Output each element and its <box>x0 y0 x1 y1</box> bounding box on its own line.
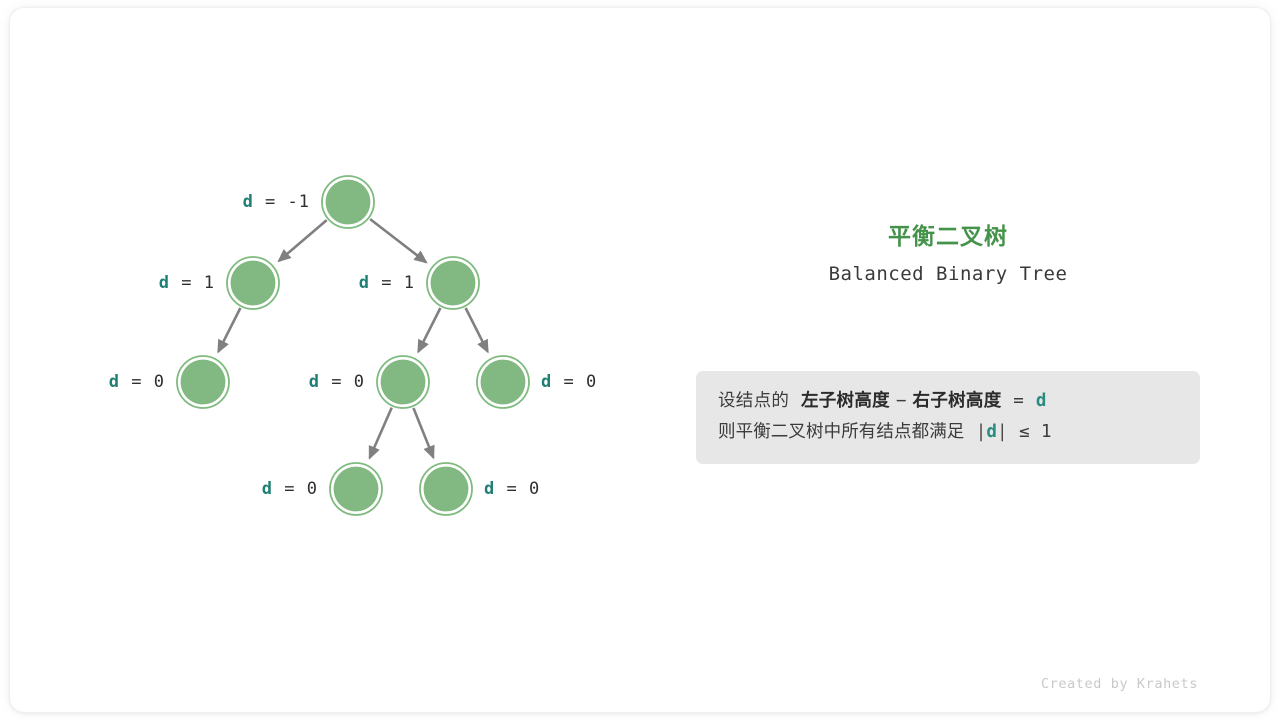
tree-edge <box>370 408 392 458</box>
tree-edge <box>418 308 440 352</box>
node-label-value: = 0 <box>320 372 365 392</box>
tree-nodes <box>177 176 529 515</box>
page-title: 平衡二叉树 <box>690 222 1206 252</box>
tree-node <box>322 176 374 228</box>
symbol-d-abs: d <box>986 422 997 442</box>
node-balance-label: d = 1 <box>159 273 215 293</box>
tree-node-core <box>381 360 426 405</box>
node-label-symbol: d <box>309 372 320 392</box>
node-label-symbol: d <box>484 479 495 499</box>
tree-node-core <box>231 261 276 306</box>
node-label-symbol: d <box>243 192 254 212</box>
node-label-value: = 1 <box>370 273 415 293</box>
node-label-value: = -1 <box>254 192 310 212</box>
binary-tree-graphic <box>0 0 1280 720</box>
tree-node-core <box>181 360 226 405</box>
tree-node <box>477 356 529 408</box>
tree-node-core <box>424 467 469 512</box>
term-left-subtree-height: 左子树高度 <box>801 391 890 411</box>
condition-prefix: 则平衡二叉树中所有结点都满足 <box>718 422 964 442</box>
node-balance-label: d = -1 <box>243 192 310 212</box>
diagram-canvas: d = -1d = 1d = 1d = 0d = 0d = 0d = 0d = … <box>0 0 1280 720</box>
tree-node <box>427 257 479 309</box>
tree-node <box>330 463 382 515</box>
definition-prefix: 设结点的 <box>718 391 789 411</box>
node-label-symbol: d <box>359 273 370 293</box>
node-label-value: = 0 <box>120 372 165 392</box>
node-label-symbol: d <box>262 479 273 499</box>
node-label-value: = 0 <box>495 479 540 499</box>
tree-edge <box>218 308 240 352</box>
tree-edge <box>370 219 426 262</box>
node-label-symbol: d <box>109 372 120 392</box>
tree-node-core <box>334 467 379 512</box>
definition-box: 设结点的 左子树高度 − 右子树高度 = d 则平衡二叉树中所有结点都满足 |d… <box>696 371 1200 464</box>
abs-bar-open: | <box>976 422 987 442</box>
node-label-value: = 1 <box>170 273 215 293</box>
bound-value: 1 <box>1041 422 1052 442</box>
node-balance-label: d = 0 <box>109 372 165 392</box>
tree-edge <box>413 408 433 457</box>
node-balance-label: d = 0 <box>262 479 318 499</box>
tree-edge <box>279 220 327 261</box>
node-balance-label: d = 0 <box>484 479 540 499</box>
panel-heading: 平衡二叉树 Balanced Binary Tree <box>690 222 1206 287</box>
node-balance-label: d = 0 <box>309 372 365 392</box>
minus-operator: − <box>896 391 907 411</box>
tree-edge <box>466 308 488 352</box>
credit-footer: Created by Krahets <box>0 676 1198 692</box>
node-balance-label: d = 1 <box>359 273 415 293</box>
tree-node <box>177 356 229 408</box>
tree-node <box>377 356 429 408</box>
equals-operator: = <box>1013 391 1024 411</box>
node-label-symbol: d <box>159 273 170 293</box>
abs-bar-close: | <box>997 422 1008 442</box>
tree-node <box>227 257 279 309</box>
definition-line-2: 则平衡二叉树中所有结点都满足 |d| ≤ 1 <box>718 417 1178 448</box>
tree-node-core <box>481 360 526 405</box>
node-label-symbol: d <box>541 372 552 392</box>
relation-operator: ≤ <box>1019 422 1030 442</box>
symbol-d: d <box>1036 391 1047 411</box>
tree-node <box>420 463 472 515</box>
definition-line-1: 设结点的 左子树高度 − 右子树高度 = d <box>718 386 1178 417</box>
tree-node-core <box>431 261 476 306</box>
page-subtitle: Balanced Binary Tree <box>690 261 1206 287</box>
tree-node-core <box>326 180 371 225</box>
tree-edges <box>218 219 487 458</box>
node-label-value: = 0 <box>273 479 318 499</box>
term-right-subtree-height: 右子树高度 <box>913 391 1002 411</box>
node-balance-label: d = 0 <box>541 372 597 392</box>
node-label-value: = 0 <box>552 372 597 392</box>
